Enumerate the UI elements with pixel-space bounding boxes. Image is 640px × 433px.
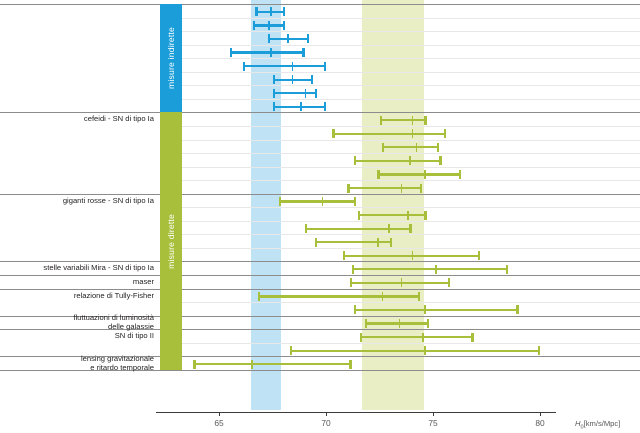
error-bar-cap-low <box>365 319 367 328</box>
error-bar-center-marker <box>412 129 414 138</box>
error-bar-cap-low <box>279 197 281 206</box>
error-bar-center-marker <box>388 224 390 233</box>
gridline <box>182 99 640 100</box>
gridline <box>182 72 640 73</box>
error-bar-cap-low <box>273 89 275 98</box>
error-bar-line <box>352 268 508 270</box>
error-bar-cap-low <box>332 129 334 138</box>
error-bar-cap-low <box>352 265 354 274</box>
gridline <box>182 180 640 181</box>
error-bar-line <box>358 214 426 216</box>
error-bar-center-marker <box>407 211 409 220</box>
group-spine-label-wrap: misure dirette <box>160 112 182 369</box>
x-axis-tick <box>219 412 220 416</box>
error-bar-cap-low <box>347 184 349 193</box>
error-bar-cap-low <box>343 251 345 260</box>
error-bar-line <box>305 228 412 230</box>
error-bar-cap-high <box>424 116 426 125</box>
error-bar-cap-low <box>305 224 307 233</box>
error-bar-cap-low <box>243 62 245 71</box>
error-bar-cap-low <box>380 116 382 125</box>
x-axis-tick <box>540 412 541 416</box>
error-bar-line <box>354 160 442 162</box>
error-bar-center-marker <box>377 238 379 247</box>
direct-consensus-band <box>362 0 424 410</box>
error-bar-cap-low <box>382 143 384 152</box>
error-bar-cap-high <box>448 278 450 287</box>
error-bar-line <box>377 173 460 175</box>
error-bar-cap-high <box>324 62 326 71</box>
error-bar-center-marker <box>412 116 414 125</box>
error-bar-line <box>193 363 351 365</box>
category-label: maser <box>133 277 154 286</box>
error-bar-cap-high <box>354 197 356 206</box>
error-bar-cap-high <box>439 156 441 165</box>
error-bar-center-marker <box>424 170 426 179</box>
plot-area <box>182 0 640 410</box>
error-bar-cap-high <box>409 224 411 233</box>
error-bar-cap-low <box>360 333 362 342</box>
error-bar-center-marker <box>422 333 424 342</box>
error-bar-center-marker <box>401 184 403 193</box>
error-bar-line <box>230 51 305 53</box>
error-bar-center-marker <box>401 278 403 287</box>
x-axis-tick-label: 65 <box>214 418 223 428</box>
error-bar-cap-low <box>273 75 275 84</box>
error-bar-cap-high <box>424 211 426 220</box>
x-axis-tick <box>433 412 434 416</box>
group-spine-label-indirect: misure indirette <box>166 27 176 89</box>
gridline <box>182 126 640 127</box>
error-bar-line <box>347 187 422 189</box>
error-bar-cap-low <box>358 211 360 220</box>
error-bar-cap-high <box>506 265 508 274</box>
error-bar-cap-high <box>516 305 518 314</box>
error-bar-line <box>350 282 451 284</box>
error-bar-line <box>360 336 473 338</box>
category-label: fluttuazioni di luminosità delle galassi… <box>73 313 154 331</box>
gridline <box>182 234 640 235</box>
gridline <box>182 153 640 154</box>
group-spine-label-direct: misure dirette <box>166 214 176 269</box>
chart-root: misure indirette misure dirette cefeidi … <box>0 0 640 433</box>
error-bar-line <box>315 241 392 243</box>
error-bar-cap-high <box>311 75 313 84</box>
category-label: relazione di Tully-Fisher <box>74 291 154 300</box>
error-bar-cap-high <box>478 251 480 260</box>
error-bar-cap-high <box>437 143 439 152</box>
gridline <box>182 45 640 46</box>
error-bar-cap-high <box>283 7 285 16</box>
error-bar-center-marker <box>292 62 294 71</box>
error-bar-cap-high <box>427 319 429 328</box>
error-bar-center-marker <box>251 360 253 369</box>
error-bar-line <box>243 65 326 67</box>
gridline <box>182 343 640 344</box>
error-bar-line <box>380 119 427 121</box>
error-bar-center-marker <box>409 156 411 165</box>
gridline <box>182 140 640 141</box>
error-bar-cap-high <box>302 48 304 57</box>
error-bar-cap-low <box>253 21 255 30</box>
gridline <box>182 302 640 303</box>
error-bar-center-marker <box>412 251 414 260</box>
error-bar-center-marker <box>424 346 426 355</box>
error-bar-center-marker <box>270 48 272 57</box>
x-axis-tick <box>326 412 327 416</box>
x-axis-tick-label: 70 <box>321 418 330 428</box>
group-spine-misure-indirette: misure indirette <box>160 4 182 112</box>
error-bar-center-marker <box>424 305 426 314</box>
category-label: stelle variabili Mira - SN di tipo Ia <box>43 263 154 272</box>
error-bar-center-marker <box>287 34 289 43</box>
error-bar-cap-high <box>307 34 309 43</box>
error-bar-cap-high <box>418 292 420 301</box>
error-bar-center-marker <box>416 143 418 152</box>
error-bar-cap-high <box>315 89 317 98</box>
gridline <box>182 58 640 59</box>
error-bar-cap-low <box>273 102 275 111</box>
error-bar-line <box>382 146 440 148</box>
error-bar-line <box>258 295 421 297</box>
error-bar-cap-low <box>350 278 352 287</box>
category-label: SN di tipo II <box>115 331 154 340</box>
error-bar-cap-high <box>390 238 392 247</box>
category-label-column: cefeidi - SN di tipo Iagiganti rosse - S… <box>0 0 160 410</box>
gridline <box>182 167 640 168</box>
error-bar-cap-low <box>258 292 260 301</box>
error-bar-cap-low <box>315 238 317 247</box>
error-bar-cap-low <box>230 48 232 57</box>
group-spine-label-wrap: misure indirette <box>160 4 182 112</box>
error-bar-center-marker <box>305 89 307 98</box>
gridline <box>182 31 640 32</box>
error-bar-center-marker <box>399 319 401 328</box>
error-bar-line <box>365 322 429 324</box>
error-bar-cap-high <box>471 333 473 342</box>
error-bar-center-marker <box>382 292 384 301</box>
error-bar-cap-high <box>324 102 326 111</box>
group-spine-misure-dirette: misure dirette <box>160 112 182 369</box>
error-bar-cap-low <box>193 360 195 369</box>
error-bar-cap-high <box>459 170 461 179</box>
error-bar-center-marker <box>292 75 294 84</box>
axis-title-unit: [km/s/Mpc] <box>584 419 621 428</box>
error-bar-line <box>279 200 356 202</box>
error-bar-cap-low <box>255 7 257 16</box>
error-bar-cap-low <box>290 346 292 355</box>
error-bar-center-marker <box>435 265 437 274</box>
gridline <box>182 248 640 249</box>
gridline <box>182 207 640 208</box>
x-axis-line <box>156 412 556 413</box>
category-label: lensing gravitazionale e ritardo tempora… <box>81 354 154 372</box>
error-bar-cap-high <box>420 184 422 193</box>
error-bar-cap-high <box>283 21 285 30</box>
x-axis-tick-label: 75 <box>428 418 437 428</box>
error-bar-center-marker <box>300 102 302 111</box>
error-bar-line <box>273 106 327 108</box>
gridline <box>182 85 640 86</box>
gridline <box>182 18 640 19</box>
error-bar-cap-low <box>377 170 379 179</box>
error-bar-line <box>332 133 445 135</box>
category-label: giganti rosse - SN di tipo Ia <box>63 196 154 205</box>
indirect-consensus-band <box>251 0 281 410</box>
error-bar-center-marker <box>322 197 324 206</box>
error-bar-cap-high <box>538 346 540 355</box>
error-bar-cap-high <box>349 360 351 369</box>
error-bar-cap-low <box>268 34 270 43</box>
error-bar-line <box>273 92 318 94</box>
error-bar-line <box>290 350 540 352</box>
error-bar-cap-low <box>354 156 356 165</box>
x-axis-title: H0[km/s/Mpc] <box>575 419 620 431</box>
error-bar-center-marker <box>268 21 270 30</box>
x-axis-tick-label: 80 <box>535 418 544 428</box>
error-bar-line <box>354 309 519 311</box>
error-bar-center-marker <box>270 7 272 16</box>
error-bar-cap-high <box>444 129 446 138</box>
gridline <box>182 221 640 222</box>
category-label: cefeidi - SN di tipo Ia <box>84 114 154 123</box>
error-bar-cap-low <box>354 305 356 314</box>
